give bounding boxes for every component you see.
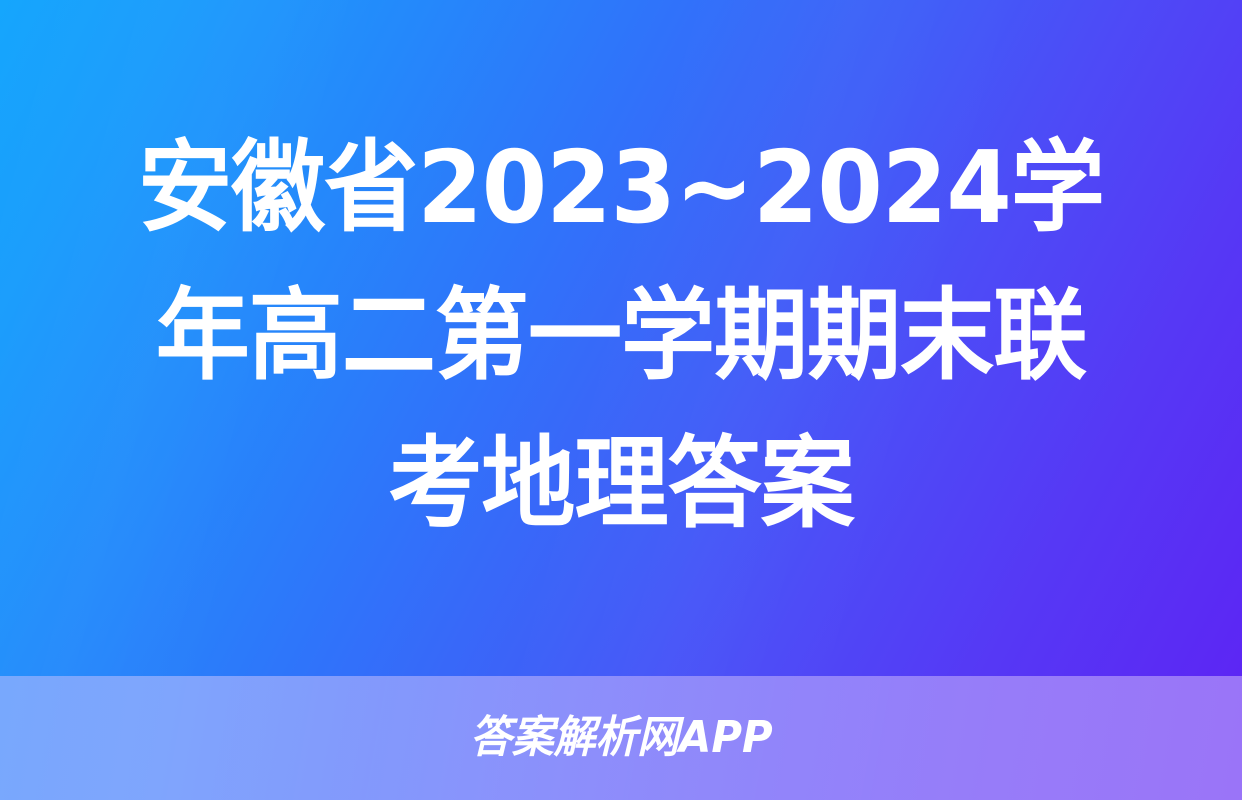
page-title: 安徽省2023~2024学年高二第一学期期末联考地理答案 <box>123 114 1119 562</box>
hero-title-panel: 安徽省2023~2024学年高二第一学期期末联考地理答案 <box>0 0 1242 676</box>
answer-cover-card: 安徽省2023~2024学年高二第一学期期末联考地理答案 答案解析网APP <box>0 0 1242 800</box>
watermark-footer-band: 答案解析网APP <box>0 676 1242 800</box>
app-watermark-label: 答案解析网APP <box>470 716 773 760</box>
